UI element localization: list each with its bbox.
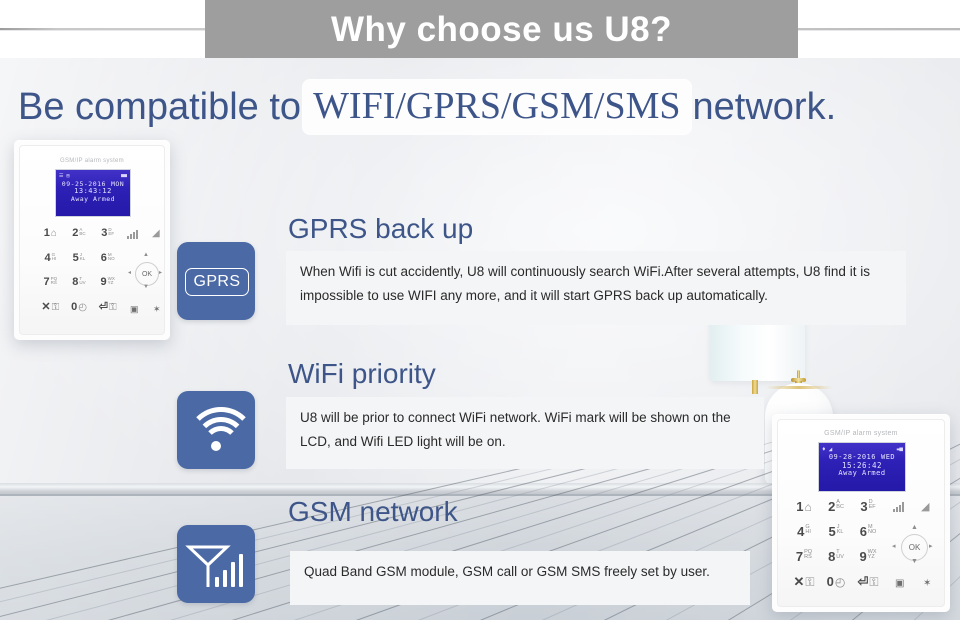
key-8-7[interactable]: 8TUV	[65, 277, 94, 302]
key-sub-bottom: HI	[805, 530, 811, 535]
key-1-0[interactable]: 1⌂	[36, 228, 65, 253]
arrow-left-icon[interactable]: ◂	[892, 542, 896, 550]
key-number: 4	[45, 253, 51, 264]
key-sub-bottom: BC	[79, 232, 85, 236]
subtitle-after: network.	[693, 86, 837, 129]
key-sub-bottom: KL	[837, 530, 844, 535]
gear-icon[interactable]: ✶	[923, 578, 931, 589]
keypad-right[interactable]: 1⌂2ABC3DEF4GHI5JKL6MNO7PQRS8TUV9WXYZ✕⚿0◴…	[788, 500, 884, 600]
gsm-bars	[215, 553, 249, 587]
gsm-icon-tile[interactable]	[177, 525, 255, 603]
feature-title-gsm: GSM network	[288, 496, 458, 528]
key-letters: ABC	[79, 228, 85, 236]
gprs-icon: GPRS	[185, 268, 249, 296]
lcd-status-icons-left: ☰ ▤ ■■	[56, 170, 130, 180]
key-letters: PQRS	[804, 550, 812, 560]
lcd-signal-battery-icon: ▬■	[897, 446, 902, 453]
key-number: 0	[71, 302, 77, 313]
key-⏎-11[interactable]: ⏎⚿	[852, 575, 884, 600]
lcd-display-right: ♦ ◢ ▬■ 09-28-2016 WED 15:26:42 Away Arme…	[818, 442, 906, 492]
promo-banner-page: Why choose us U8? Be compatible to WIFI/…	[0, 0, 960, 620]
key-number: 7	[796, 550, 803, 563]
alarm-panel-left[interactable]: GSM/IP alarm system ☰ ▤ ■■ 09-25-2016 MO…	[14, 140, 170, 340]
key-number: 8	[72, 277, 78, 288]
wifi-icon: ◢	[152, 228, 160, 239]
lcd-battery-icon: ■■	[121, 173, 127, 179]
lcd-signal-icon: ☰	[59, 173, 63, 179]
key-2-1[interactable]: 2ABC	[65, 228, 94, 253]
key-✕-9[interactable]: ✕⚿	[788, 575, 820, 600]
signal-bars-icon	[127, 230, 139, 239]
clock-icon: ◴	[78, 302, 87, 313]
key-sub-bottom: YZ	[108, 281, 114, 285]
keypad-left[interactable]: 1⌂2ABC3DEF4GHI5JKL6MNO7PQRS8TUV9WXYZ✕⚿0◴…	[36, 228, 122, 326]
key-letters: DEF	[869, 500, 876, 510]
feature-body-gprs: When Wifi is cut accidently, U8 will con…	[286, 251, 906, 325]
key-number: 4	[797, 525, 804, 538]
key-1-0[interactable]: 1⌂	[788, 500, 820, 525]
key-letters: JKL	[837, 525, 844, 535]
key-✕-9[interactable]: ✕⚿	[36, 302, 65, 327]
key-number: ⏎	[99, 302, 108, 313]
gprs-icon-label: GPRS	[194, 273, 241, 291]
key-letters: DEF	[108, 228, 114, 236]
alarm-panel-right[interactable]: GSM/IP alarm system ♦ ◢ ▬■ 09-28-2016 WE…	[772, 414, 950, 612]
key-number: 9	[859, 550, 866, 563]
key-number: 7	[44, 277, 50, 288]
key-number: 1	[44, 228, 50, 239]
wifi-icon-tile[interactable]	[177, 391, 255, 469]
ok-button[interactable]: OK	[901, 534, 928, 561]
arrow-right-icon[interactable]: ▸	[159, 269, 162, 276]
unlock-icon: ⚿	[805, 575, 814, 590]
lcd-status-right: Away Armed	[819, 470, 905, 478]
key-number: ✕	[793, 575, 804, 588]
feature-title-gprs: GPRS back up	[288, 213, 473, 245]
key-letters: ABC	[836, 500, 844, 510]
ok-button[interactable]: OK	[135, 262, 159, 286]
key-letters: WXYZ	[108, 277, 115, 285]
key-7-6[interactable]: 7PQRS	[36, 277, 65, 302]
lamp-neck-decor	[752, 380, 758, 394]
lcd-status-left: Away Armed	[56, 196, 130, 203]
camera-icon[interactable]: ▣	[895, 578, 904, 589]
key-4-3[interactable]: 4GHI	[36, 253, 65, 278]
subtitle-before: Be compatible to	[18, 86, 301, 129]
home-icon: ⌂	[804, 500, 811, 514]
gear-icon[interactable]: ✶	[153, 304, 161, 315]
key-sub-bottom: EF	[108, 232, 114, 236]
lcd-weekday-left: MON	[111, 181, 124, 188]
lock-icon: ⚿	[869, 575, 878, 590]
arrow-up-icon[interactable]: ▲	[143, 252, 149, 258]
page-title: Why choose us U8?	[331, 12, 672, 47]
feature-body-wifi: U8 will be prior to connect WiFi network…	[286, 397, 764, 469]
key-number: ⏎	[857, 575, 868, 588]
key-sub-bottom: HI	[52, 257, 57, 261]
key-8-7[interactable]: 8TUV	[820, 550, 852, 575]
feature-title-wifi: WiFi priority	[288, 358, 436, 390]
gprs-icon-tile[interactable]: GPRS	[177, 242, 255, 320]
key-letters: GHI	[52, 253, 57, 261]
key-number: 5	[73, 253, 79, 264]
wifi-icon	[177, 391, 255, 469]
key-sub-bottom: NO	[868, 530, 876, 535]
key-9-8[interactable]: 9WXYZ	[93, 277, 122, 302]
wifi-icon: ◢	[921, 500, 929, 513]
key-sub-bottom: UV	[836, 555, 844, 560]
lcd-display-left: ☰ ▤ ■■ 09-25-2016 MON 13:43:12 Away Arme…	[55, 169, 131, 217]
feature-body-gsm: Quad Band GSM module, GSM call or GSM SM…	[290, 551, 750, 605]
key-letters: MNO	[108, 253, 115, 261]
key-letters: PQRS	[51, 277, 58, 285]
key-0-10[interactable]: 0◴	[820, 575, 852, 600]
key-3-2[interactable]: 3DEF	[93, 228, 122, 253]
nav-cluster-right[interactable]: ◢ ▲ OK ◂ ▸ ▼ ▣ ✶	[890, 498, 940, 600]
key-7-6[interactable]: 7PQRS	[788, 550, 820, 575]
device-brand-right: GSM/IP alarm system	[772, 430, 950, 437]
key-sub-bottom: RS	[804, 555, 812, 560]
key-sub-bottom: YZ	[868, 555, 875, 560]
key-number: 3	[101, 228, 107, 239]
key-number: 6	[101, 253, 107, 264]
scene-photo: Be compatible to WIFI/GPRS/GSM/SMS netwo…	[0, 58, 960, 620]
key-9-8[interactable]: 9WXYZ	[852, 550, 884, 575]
arrow-left-icon[interactable]: ◂	[128, 269, 131, 276]
home-icon: ⌂	[51, 228, 57, 239]
arrow-up-icon[interactable]: ▲	[911, 524, 918, 531]
key-0-10[interactable]: 0◴	[65, 302, 94, 327]
clock-icon: ◴	[835, 575, 845, 589]
key-⏎-11[interactable]: ⏎⚿	[93, 302, 122, 327]
key-number: 6	[860, 525, 867, 538]
subtitle: Be compatible to WIFI/GPRS/GSM/SMS netwo…	[18, 84, 948, 130]
key-6-5[interactable]: 6MNO	[93, 253, 122, 278]
key-sub-bottom: NO	[108, 257, 115, 261]
key-letters: WXYZ	[868, 550, 877, 560]
arrow-right-icon[interactable]: ▸	[929, 542, 933, 550]
key-letters: TUV	[836, 550, 844, 560]
key-number: 8	[828, 550, 835, 563]
lcd-wifi-icon: ◢	[829, 446, 833, 453]
key-letters: GHI	[805, 525, 811, 535]
lock-icon: ⚿	[109, 302, 117, 313]
arrow-down-icon[interactable]: ▼	[911, 558, 918, 565]
key-sub-bottom: BC	[836, 505, 844, 510]
nav-cluster-left[interactable]: ◢ ▲ OK ◂ ▸ ▼ ▣ ✶	[126, 226, 168, 326]
key-sub-bottom: RS	[51, 281, 57, 285]
title-banner: Why choose us U8?	[205, 0, 798, 58]
vase-gold-band-decor	[766, 386, 832, 389]
key-number: 0	[827, 575, 834, 588]
key-sub-bottom: EF	[869, 505, 876, 510]
device-brand-left: GSM/IP alarm system	[14, 158, 170, 164]
arrow-down-icon[interactable]: ▼	[143, 284, 149, 290]
subtitle-highlight: WIFI/GPRS/GSM/SMS	[303, 80, 690, 134]
key-letters: JKL	[80, 253, 86, 261]
key-2-1[interactable]: 2ABC	[820, 500, 852, 525]
key-number: 9	[100, 277, 106, 288]
key-number: ✕	[41, 302, 50, 313]
unlock-icon: ⚿	[52, 302, 60, 313]
lcd-gsm-icon: ▤	[66, 173, 69, 179]
gsm-signal-icon	[177, 525, 255, 603]
lcd-weekday-right: WED	[881, 454, 895, 462]
lcd-antenna-icon: ♦	[822, 446, 826, 453]
key-3-2[interactable]: 3DEF	[852, 500, 884, 525]
key-4-3[interactable]: 4GHI	[788, 525, 820, 550]
key-number: 5	[829, 525, 836, 538]
key-letters: MNO	[868, 525, 876, 535]
key-6-5[interactable]: 6MNO	[852, 525, 884, 550]
key-number: 3	[860, 500, 867, 513]
key-number: 1	[796, 500, 803, 513]
key-5-4[interactable]: 5JKL	[65, 253, 94, 278]
key-5-4[interactable]: 5JKL	[820, 525, 852, 550]
key-number: 2	[828, 500, 835, 513]
key-sub-bottom: KL	[80, 257, 86, 261]
key-letters: TUV	[79, 277, 85, 285]
signal-bars-icon	[893, 502, 906, 512]
key-sub-bottom: UV	[79, 281, 85, 285]
camera-icon[interactable]: ▣	[130, 304, 139, 315]
key-number: 2	[72, 228, 78, 239]
